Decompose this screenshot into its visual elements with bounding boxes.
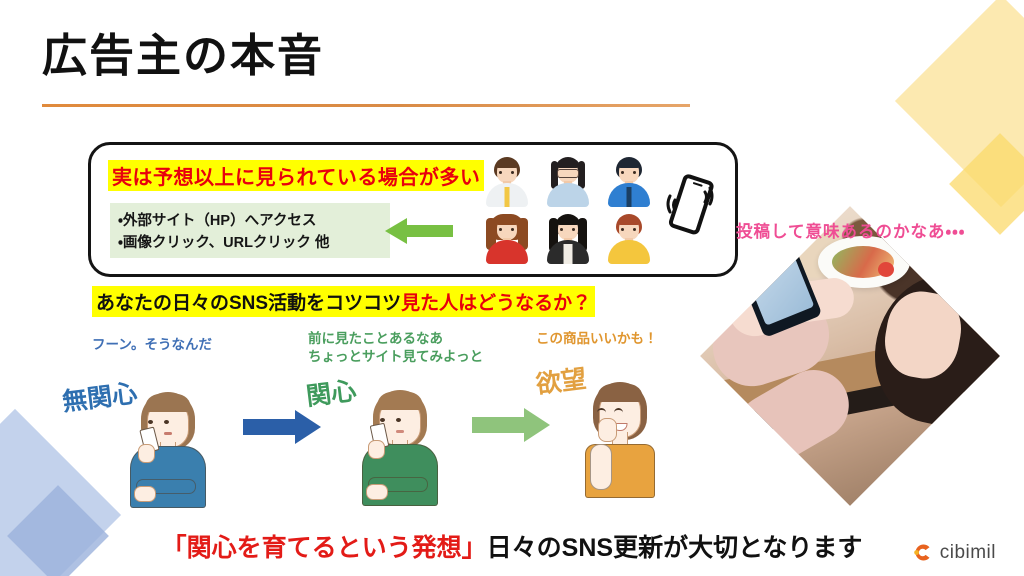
- bullet-item-1: ・外部サイト（HP）へアクセス: [118, 209, 316, 230]
- avatar-woman-longhair-black: [545, 212, 591, 264]
- slide-canvas: 広告主の本音 実は予想以上に見られている場合が多い ・外部サイト（HP）へアクセ…: [0, 0, 1024, 576]
- avatar-woman-curly-red: [484, 212, 530, 264]
- avatar-woman-glasses: [545, 155, 591, 207]
- green-left-arrow-icon: [385, 216, 453, 246]
- vibrating-smartphone-icon: [662, 170, 718, 240]
- caption-stage-1: フーン。そうなんだ: [92, 336, 212, 354]
- blue-flow-arrow-icon: [243, 410, 321, 444]
- person-interested-woman: [352, 386, 448, 506]
- title-underline: [42, 104, 690, 107]
- bottom-message-black-part: 日々のSNS更新が大切となります: [487, 534, 863, 562]
- glasses-icon: [557, 169, 579, 178]
- stage-label-interest: 関心: [304, 371, 358, 413]
- avatar-man-necktie: [484, 155, 530, 207]
- person-indifferent-woman: [120, 388, 216, 508]
- green-flow-arrow-icon: [472, 408, 550, 442]
- cafe-smartphone-photo: [700, 206, 1000, 506]
- bottom-message-red-part: 「関心を育てるという発想」: [162, 534, 487, 562]
- cibimil-logo-text: cibimil: [940, 543, 996, 562]
- question-black-part: あなたの日々のSNS活動をコツコツ: [96, 293, 401, 314]
- caption-stage-3: この商品いいかも！: [536, 330, 658, 348]
- caption-stage-2-line1: 前に見たことあるなあ: [308, 330, 483, 348]
- caption-stage-2: 前に見たことあるなあ ちょっとサイト見てみよっと: [308, 330, 483, 366]
- question-band: あなたの日々のSNS活動をコツコツ見た人はどうなるか？: [92, 286, 595, 317]
- bullet-item-2: ・画像クリック、URLクリック 他: [118, 231, 329, 252]
- caption-stage-2-line2: ちょっとサイト見てみよっと: [308, 348, 483, 366]
- person-desiring-woman: [572, 378, 668, 498]
- bottom-message: 「関心を育てるという発想」日々のSNS更新が大切となります: [0, 528, 1024, 564]
- page-title: 広告主の本音: [42, 32, 324, 79]
- photo-callout-text: 投稿して意味あるのかなあ・・・: [736, 218, 965, 242]
- headline-highlight: 実は予想以上に見られている場合が多い: [108, 160, 484, 191]
- avatar-man-blue-shirt: [606, 155, 652, 207]
- cibimil-logo-mark-icon: [912, 542, 933, 563]
- question-red-part: 見た人はどうなるか？: [401, 293, 591, 314]
- avatar-man-yellow-hoodie: [606, 212, 652, 264]
- cibimil-logo: cibimil: [912, 542, 996, 563]
